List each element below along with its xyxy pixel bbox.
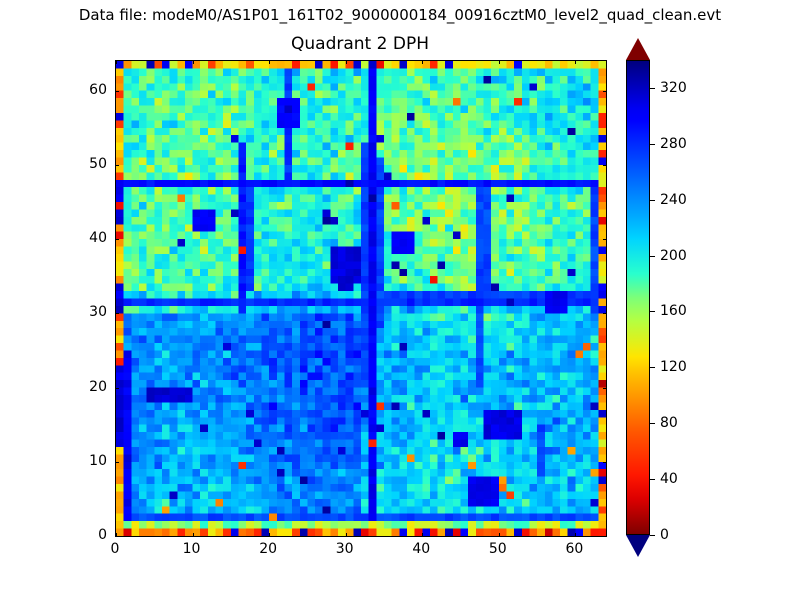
y-tick-right xyxy=(603,536,607,537)
y-ticklabel: 40 xyxy=(89,230,107,246)
y-ticklabel: 50 xyxy=(89,156,107,172)
x-tick xyxy=(575,533,576,537)
colorbar-extend-max-arrow-icon xyxy=(626,38,650,60)
colorbar-ticklabel: 0 xyxy=(660,527,669,543)
y-tick-right xyxy=(603,91,607,92)
colorbar-tick xyxy=(650,144,655,145)
colorbar[interactable] xyxy=(626,60,650,535)
colorbar-ticklabel: 80 xyxy=(660,415,678,431)
colorbar-tick xyxy=(650,367,655,368)
y-tick xyxy=(115,313,119,314)
data-file-suptitle: Data file: modeM0/AS1P01_161T02_90000001… xyxy=(0,5,800,25)
y-tick xyxy=(115,536,119,537)
y-tick-right xyxy=(603,388,607,389)
colorbar-ticklabel: 320 xyxy=(660,80,687,96)
x-tick xyxy=(193,533,194,537)
x-tick xyxy=(499,533,500,537)
y-tick xyxy=(115,239,119,240)
x-ticklabel: 40 xyxy=(412,541,430,557)
y-ticklabel: 0 xyxy=(98,527,107,543)
colorbar-ticklabel: 200 xyxy=(660,248,687,264)
colorbar-tick xyxy=(650,256,655,257)
y-tick-right xyxy=(603,313,607,314)
x-tick xyxy=(346,533,347,537)
x-tick xyxy=(422,533,423,537)
x-ticklabel: 30 xyxy=(336,541,354,557)
x-tick-top xyxy=(575,60,576,64)
colorbar-ticklabel: 280 xyxy=(660,136,687,152)
colorbar-tick xyxy=(650,479,655,480)
colorbar-gradient xyxy=(626,60,650,535)
x-ticklabel: 10 xyxy=(183,541,201,557)
y-ticklabel: 60 xyxy=(89,82,107,98)
y-tick xyxy=(115,388,119,389)
colorbar-tick xyxy=(650,88,655,89)
figure-canvas: Data file: modeM0/AS1P01_161T02_90000001… xyxy=(0,0,800,600)
colorbar-ticklabel: 160 xyxy=(660,303,687,319)
x-tick-top xyxy=(116,60,117,64)
x-ticklabel: 20 xyxy=(259,541,277,557)
y-ticklabel: 20 xyxy=(89,379,107,395)
y-tick xyxy=(115,165,119,166)
heatmap-axes[interactable] xyxy=(115,60,607,537)
x-tick-top xyxy=(269,60,270,64)
x-tick-top xyxy=(499,60,500,64)
x-tick-top xyxy=(422,60,423,64)
heatmap-image[interactable] xyxy=(116,61,606,536)
colorbar-extend-min-arrow-icon xyxy=(626,535,650,557)
x-tick-top xyxy=(346,60,347,64)
x-tick xyxy=(269,533,270,537)
x-ticklabel: 0 xyxy=(111,541,120,557)
y-tick-right xyxy=(603,239,607,240)
x-tick-top xyxy=(193,60,194,64)
y-tick xyxy=(115,462,119,463)
x-ticklabel: 60 xyxy=(565,541,583,557)
y-ticklabel: 30 xyxy=(89,304,107,320)
colorbar-ticklabel: 40 xyxy=(660,471,678,487)
x-ticklabel: 50 xyxy=(489,541,507,557)
y-tick xyxy=(115,91,119,92)
chart-title: Quadrant 2 DPH xyxy=(115,33,605,55)
colorbar-ticklabel: 240 xyxy=(660,192,687,208)
colorbar-tick xyxy=(650,200,655,201)
colorbar-tick xyxy=(650,311,655,312)
colorbar-ticklabel: 120 xyxy=(660,359,687,375)
y-tick-right xyxy=(603,462,607,463)
colorbar-tick xyxy=(650,423,655,424)
colorbar-tick xyxy=(650,535,655,536)
y-ticklabel: 10 xyxy=(89,453,107,469)
y-tick-right xyxy=(603,165,607,166)
